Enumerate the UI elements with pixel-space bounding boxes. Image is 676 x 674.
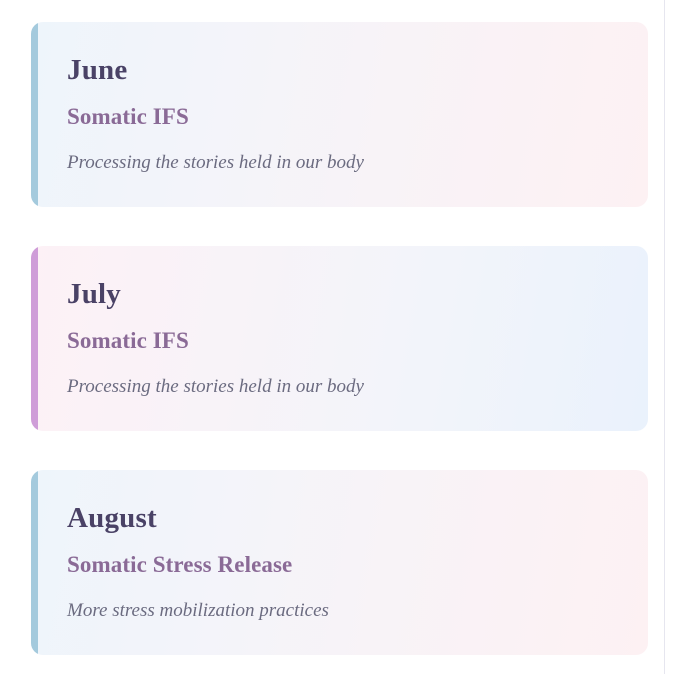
program-title: Somatic Stress Release [67, 553, 648, 576]
program-description: Processing the stories held in our body [67, 377, 648, 396]
month-card-august[interactable]: August Somatic Stress Release More stres… [31, 470, 648, 655]
card-accent-bar [31, 22, 38, 207]
page-divider [664, 0, 665, 674]
program-description: Processing the stories held in our body [67, 153, 648, 172]
card-accent-bar [31, 470, 38, 655]
month-card-june[interactable]: June Somatic IFS Processing the stories … [31, 22, 648, 207]
month-title: June [67, 56, 648, 85]
program-title: Somatic IFS [67, 329, 648, 352]
month-card-july[interactable]: July Somatic IFS Processing the stories … [31, 246, 648, 431]
month-title: July [67, 280, 648, 309]
program-description: More stress mobilization practices [67, 601, 648, 620]
card-accent-bar [31, 246, 38, 431]
program-title: Somatic IFS [67, 105, 648, 128]
month-title: August [67, 504, 648, 533]
schedule-list: June Somatic IFS Processing the stories … [0, 0, 664, 674]
